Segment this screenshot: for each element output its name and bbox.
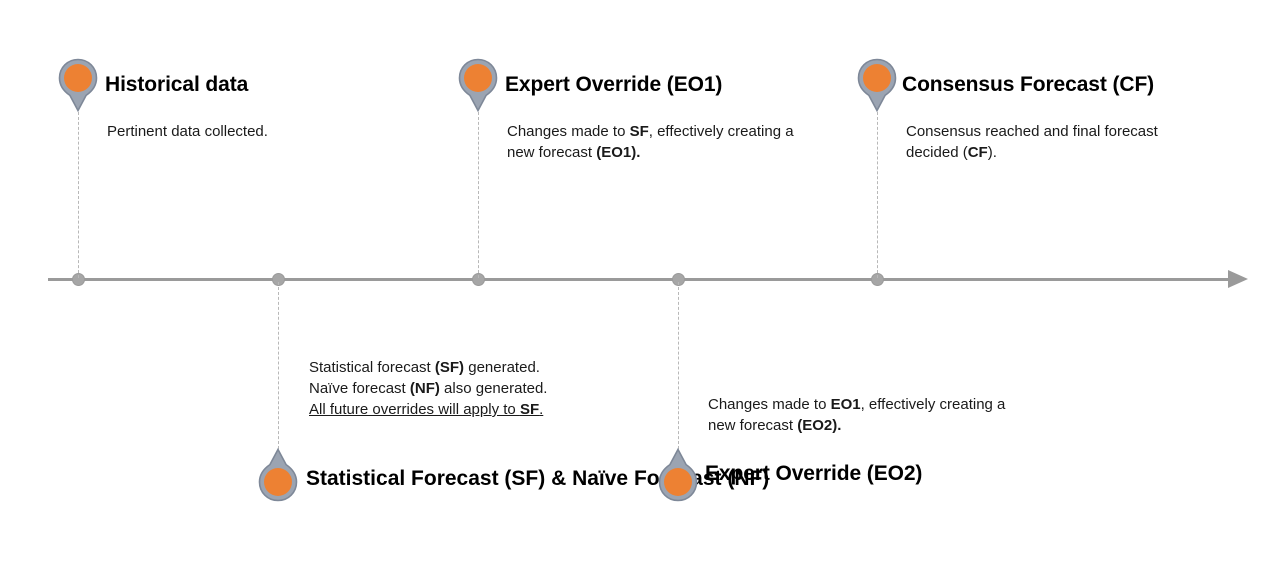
map-pin-icon-expert-override-1[interactable] [457, 57, 499, 113]
text-line: All future overrides will apply to SF. [309, 399, 547, 420]
node-title-historical-data: Historical data [105, 70, 248, 100]
node-body-consensus-forecast: Consensus reached and final forecastdeci… [906, 121, 1158, 163]
text-line: Naïve forecast (NF) also generated. [309, 378, 547, 399]
node-title-consensus-forecast: Consensus Forecast (CF) [902, 70, 1154, 100]
node-title-statistical-forecast: Statistical Forecast (SF) & Naïve Foreca… [306, 457, 769, 500]
timeline-diagram: Historical data Pertinent data collected… [0, 0, 1280, 587]
text-line: Changes made to EO1, effectively creatin… [708, 394, 1005, 415]
node-body-expert-override-2: Changes made to EO1, effectively creatin… [708, 394, 1005, 436]
text-line: new forecast (EO1). [507, 142, 794, 163]
node-title-expert-override-2: Expert Override (EO2) [705, 459, 922, 489]
timeline-axis-line [48, 278, 1230, 281]
node-body-statistical-forecast: Statistical forecast (SF) generated.Naïv… [309, 357, 547, 420]
text-line: Statistical forecast (SF) generated. [309, 357, 547, 378]
map-pin-icon-expert-override-2[interactable] [657, 447, 699, 503]
map-pin-icon-historical-data[interactable] [57, 57, 99, 113]
text-line: decided (CF). [906, 142, 1158, 163]
text-line: Pertinent data collected. [107, 121, 268, 142]
node-body-historical-data: Pertinent data collected. [107, 121, 268, 142]
node-title-statistical-forecast-line1: Statistical Forecast (SF) [306, 467, 545, 490]
map-pin-icon-consensus-forecast[interactable] [856, 57, 898, 113]
text-line: new forecast (EO2). [708, 415, 1005, 436]
connector-consensus-forecast [877, 112, 878, 278]
connector-expert-override-2 [678, 282, 679, 454]
connector-expert-override-1 [478, 112, 479, 278]
map-pin-icon-statistical-forecast[interactable] [257, 447, 299, 503]
node-body-expert-override-1: Changes made to SF, effectively creating… [507, 121, 794, 163]
connector-historical-data [78, 112, 79, 278]
text-line: Changes made to SF, effectively creating… [507, 121, 794, 142]
arrow-right-icon [1228, 270, 1248, 288]
connector-statistical-forecast [278, 282, 279, 454]
text-line: Consensus reached and final forecast [906, 121, 1158, 142]
node-title-expert-override-1: Expert Override (EO1) [505, 70, 722, 100]
